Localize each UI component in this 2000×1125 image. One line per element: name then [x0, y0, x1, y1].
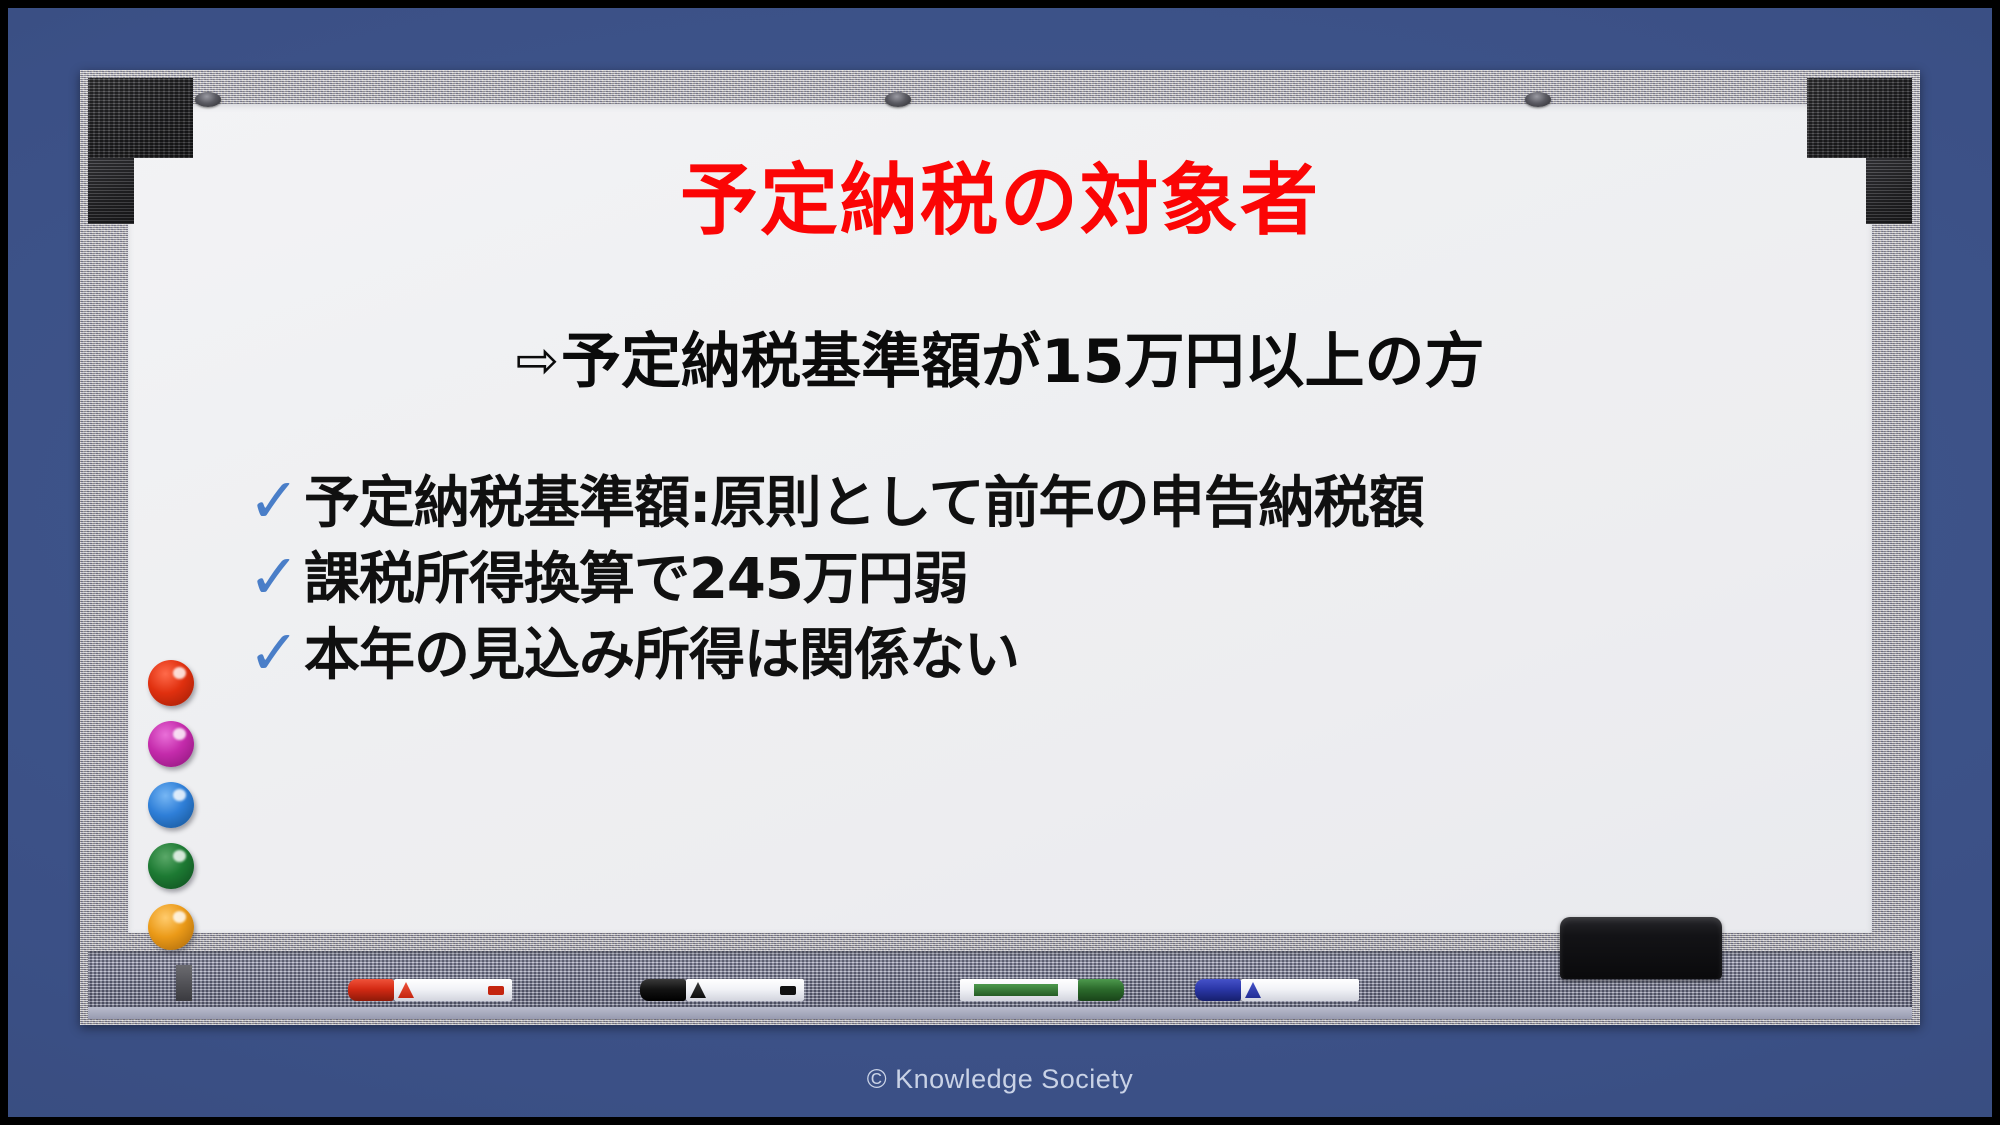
right-arrow-icon: ⇨ — [515, 331, 559, 391]
marker-band-green — [974, 984, 1058, 996]
list-item-label: 本年の見込み所得は関係ない — [304, 626, 1019, 686]
magnet-red[interactable] — [148, 660, 194, 706]
magnet-magenta[interactable] — [148, 721, 194, 767]
list-item-label: 課税所得換算で245万円弱 — [304, 550, 968, 610]
marker-cap-green — [1078, 979, 1124, 1001]
bullet-list: ✓ 予定納税基準額:原則として前年の申告納税額 ✓ 課税所得換算で245万円弱 … — [248, 474, 1842, 702]
slide-title: 予定納税の対象者 — [128, 162, 1872, 240]
marker-blue[interactable] — [1195, 979, 1359, 1001]
magnet-orange[interactable] — [148, 904, 194, 950]
checkmark-icon: ✓ — [248, 622, 300, 684]
corner-bracket-right-leg-icon — [1866, 158, 1912, 224]
board-content: 予定納税の対象者 ⇨予定納税基準額が15万円以上の方 ✓ 予定納税基準額:原則と… — [128, 104, 1872, 933]
magnet-blue[interactable] — [148, 782, 194, 828]
list-item: ✓ 課税所得換算で245万円弱 — [248, 550, 1842, 612]
checkmark-icon: ✓ — [248, 546, 300, 608]
mount-stud-icon — [195, 92, 221, 107]
marker-green[interactable] — [960, 979, 1124, 1001]
corner-bracket-top-left-icon — [88, 78, 193, 158]
copyright-footer: © Knowledge Society — [0, 1064, 2000, 1095]
pen-tray-lip — [88, 1007, 1912, 1019]
whiteboard: 予定納税の対象者 ⇨予定納税基準額が15万円以上の方 ✓ 予定納税基準額:原則と… — [80, 70, 1920, 1025]
corner-bracket-top-right-icon — [1807, 78, 1912, 158]
marker-black[interactable] — [640, 979, 804, 1001]
slide-subheading: ⇨予定納税基準額が15万円以上の方 — [128, 332, 1872, 392]
slide-canvas: 予定納税の対象者 ⇨予定納税基準額が15万円以上の方 ✓ 予定納税基準額:原則と… — [0, 0, 2000, 1125]
corner-bracket-left-leg-icon — [88, 158, 134, 224]
marker-cap-red — [348, 979, 394, 1001]
magnet-green[interactable] — [148, 843, 194, 889]
marker-nib-black — [780, 986, 796, 995]
marker-cap-blue — [1195, 979, 1241, 1001]
magnet-strip — [148, 660, 194, 965]
list-item: ✓ 予定納税基準額:原則として前年の申告納税額 — [248, 474, 1842, 536]
marker-cap-black — [640, 979, 686, 1001]
marker-red[interactable] — [348, 979, 512, 1001]
whiteboard-eraser[interactable] — [1560, 917, 1722, 979]
list-item-label: 予定納税基準額:原則として前年の申告納税額 — [304, 474, 1424, 534]
mount-stud-icon — [1525, 92, 1551, 107]
mount-stud-icon — [885, 92, 911, 107]
pen-tray-stop — [176, 965, 192, 1001]
slide-subheading-text: 予定納税基準額が15万円以上の方 — [561, 327, 1485, 397]
list-item: ✓ 本年の見込み所得は関係ない — [248, 626, 1842, 688]
marker-nib-red — [488, 986, 504, 995]
checkmark-icon: ✓ — [248, 470, 300, 532]
